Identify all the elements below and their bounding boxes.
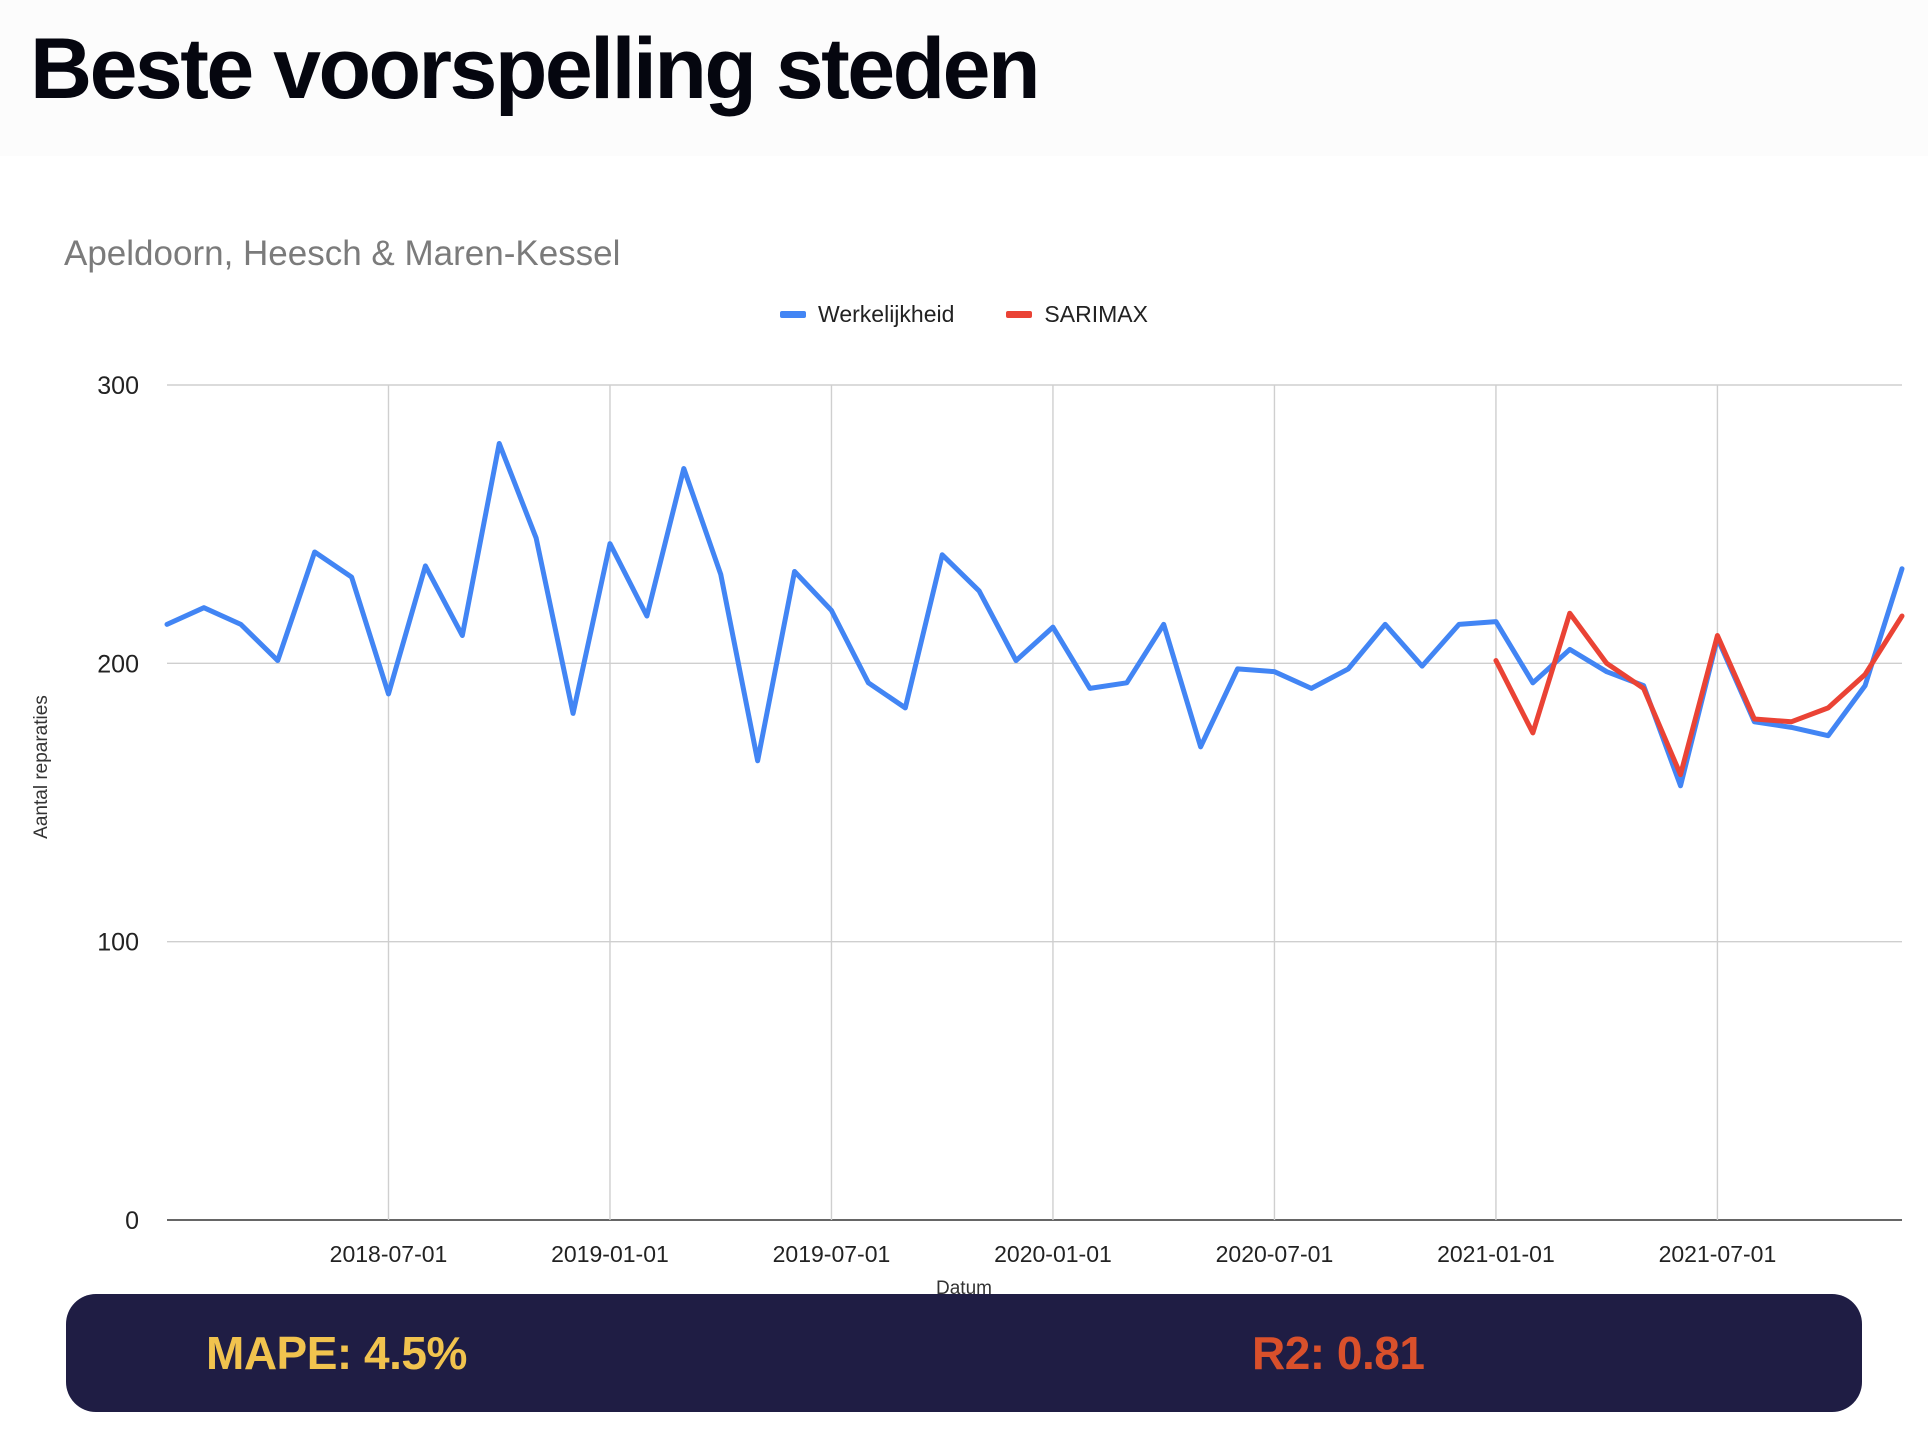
- x-tick-label: 2020-01-01: [994, 1241, 1112, 1267]
- status-badge-mape: MAPE: 4.5%: [206, 1326, 467, 1380]
- metrics-bar: MAPE: 4.5% R2: 0.81: [66, 1294, 1862, 1412]
- series-line: [1496, 613, 1902, 774]
- y-axis-ticks: 0100200300: [97, 372, 139, 1235]
- x-tick-label: 2021-07-01: [1659, 1241, 1777, 1267]
- page-title: Beste voorspelling steden: [30, 22, 1038, 117]
- x-tick-label: 2019-01-01: [551, 1241, 669, 1267]
- plot-area: 0100200300 2018-07-012019-01-012019-07-0…: [0, 156, 1928, 1302]
- series-line: [167, 443, 1902, 785]
- x-tick-label: 2020-07-01: [1216, 1241, 1334, 1267]
- slide-root: Beste voorspelling steden Apeldoorn, Hee…: [0, 0, 1928, 1440]
- chart-card: Apeldoorn, Heesch & Maren-Kessel Werkeli…: [0, 156, 1928, 1302]
- x-tick-label: 2018-07-01: [330, 1241, 448, 1267]
- status-badge-r2: R2: 0.81: [1252, 1326, 1424, 1380]
- y-axis-label: Aantal reparaties: [31, 667, 53, 867]
- x-tick-label: 2021-01-01: [1437, 1241, 1555, 1267]
- y-tick-label: 200: [97, 650, 139, 678]
- chart-svg: 0100200300 2018-07-012019-01-012019-07-0…: [0, 156, 1928, 1302]
- y-tick-label: 0: [125, 1207, 139, 1235]
- x-axis-ticks: 2018-07-012019-01-012019-07-012020-01-01…: [330, 1241, 1777, 1267]
- series-lines: [167, 443, 1902, 785]
- gridlines: [167, 385, 1902, 1220]
- y-tick-label: 100: [97, 929, 139, 957]
- y-tick-label: 300: [97, 372, 139, 400]
- x-tick-label: 2019-07-01: [773, 1241, 891, 1267]
- header-band: Beste voorspelling steden: [0, 0, 1928, 156]
